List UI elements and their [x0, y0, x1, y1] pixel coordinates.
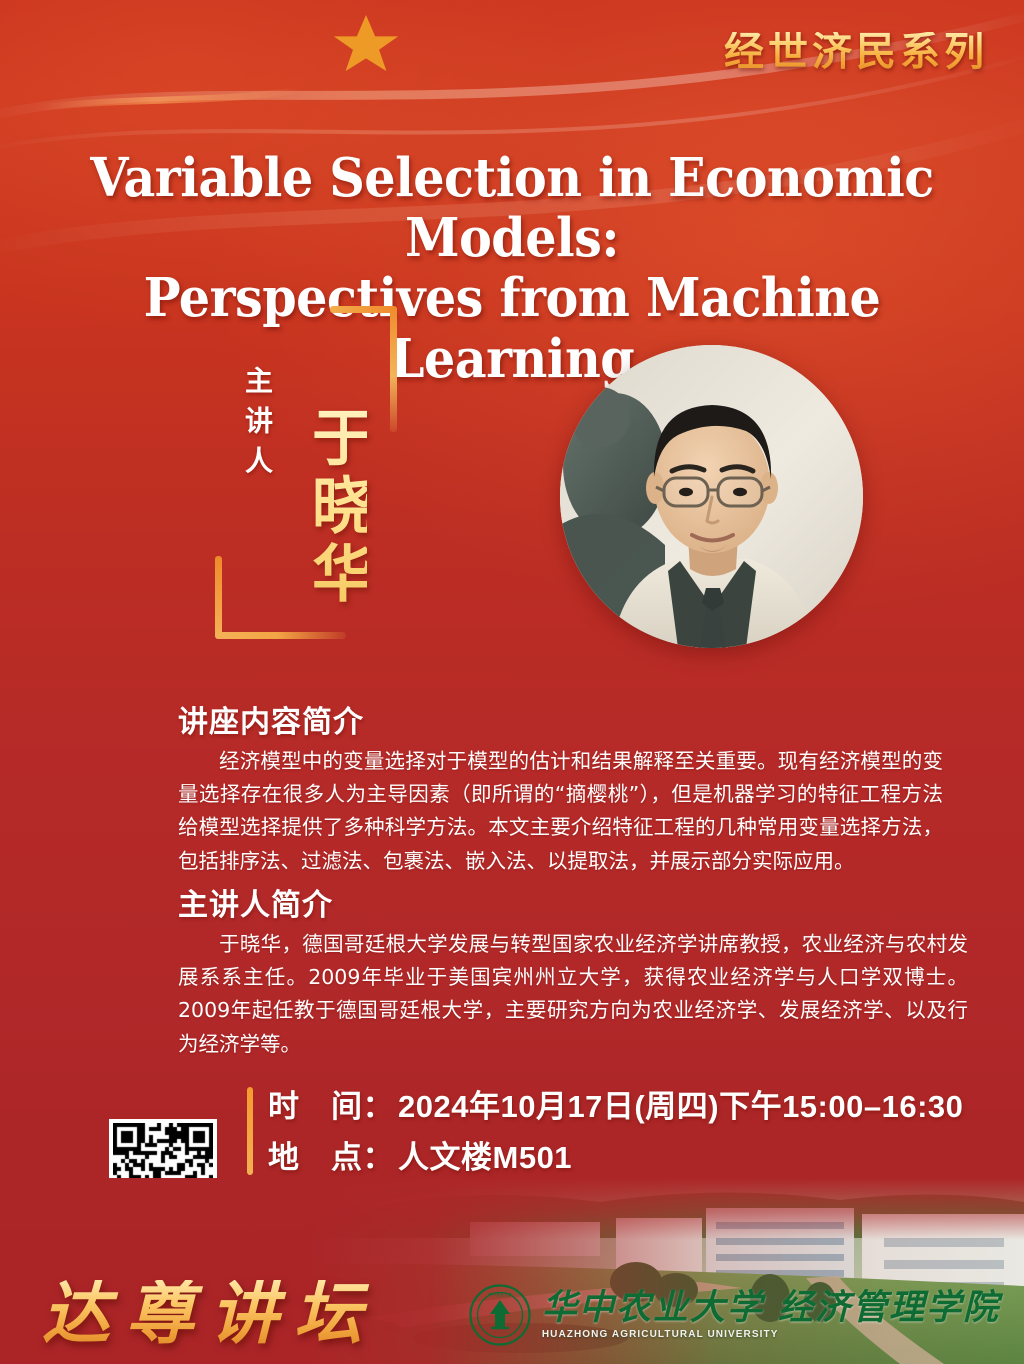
series-badge: 经世济民系列	[724, 32, 988, 72]
university-name-cn: 华中农业大学 经济管理学院	[542, 1290, 1000, 1325]
forum-brand-name: 达尊讲坛	[42, 1280, 378, 1348]
event-time-row: 时 间：2024年10月17日(周四)下午15:00–16:30	[268, 1091, 963, 1122]
event-place-row: 地 点：人文楼M501	[268, 1142, 572, 1173]
section-heading-speaker-bio: 主讲人简介	[178, 880, 333, 924]
event-accent-bar	[247, 1087, 253, 1175]
event-time-label: 时 间：	[268, 1091, 394, 1122]
event-place-label: 地 点：	[268, 1142, 394, 1173]
gold-star-icon	[334, 15, 398, 71]
section-body-abstract: 经济模型中的变量选择对于模型的估计和结果解释至关重要。现有经济模型的变量选择存在…	[178, 745, 943, 878]
university-seal-icon: 华中农业大学	[469, 1284, 531, 1346]
svg-text:华中农业大学: 华中农业大学	[488, 1291, 512, 1297]
campus-photo-top-fade	[0, 1178, 1024, 1240]
lecture-poster: 经世济民系列 Variable Selection in Economic Mo…	[0, 0, 1024, 1364]
event-place-value: 人文楼M501	[398, 1140, 572, 1175]
speaker-portrait	[560, 345, 863, 648]
event-time-value: 2024年10月17日(周四)下午15:00–16:30	[398, 1089, 963, 1124]
university-name-en: HUAZHONG AGRICULTURAL UNIVERSITY	[542, 1330, 1000, 1340]
section-body-speaker-bio: 于晓华，德国哥廷根大学发展与转型国家农业经济学讲席教授，农业经济与农村发展系系主…	[178, 928, 968, 1061]
section-heading-abstract: 讲座内容简介	[178, 697, 364, 741]
speaker-name: 于晓华	[305, 405, 367, 609]
university-lockup: 华中农业大学 华中农业大学 经济管理学院 HUAZHONG AGRICULTUR…	[469, 1284, 1000, 1346]
speaker-label: 主讲人	[243, 366, 271, 486]
